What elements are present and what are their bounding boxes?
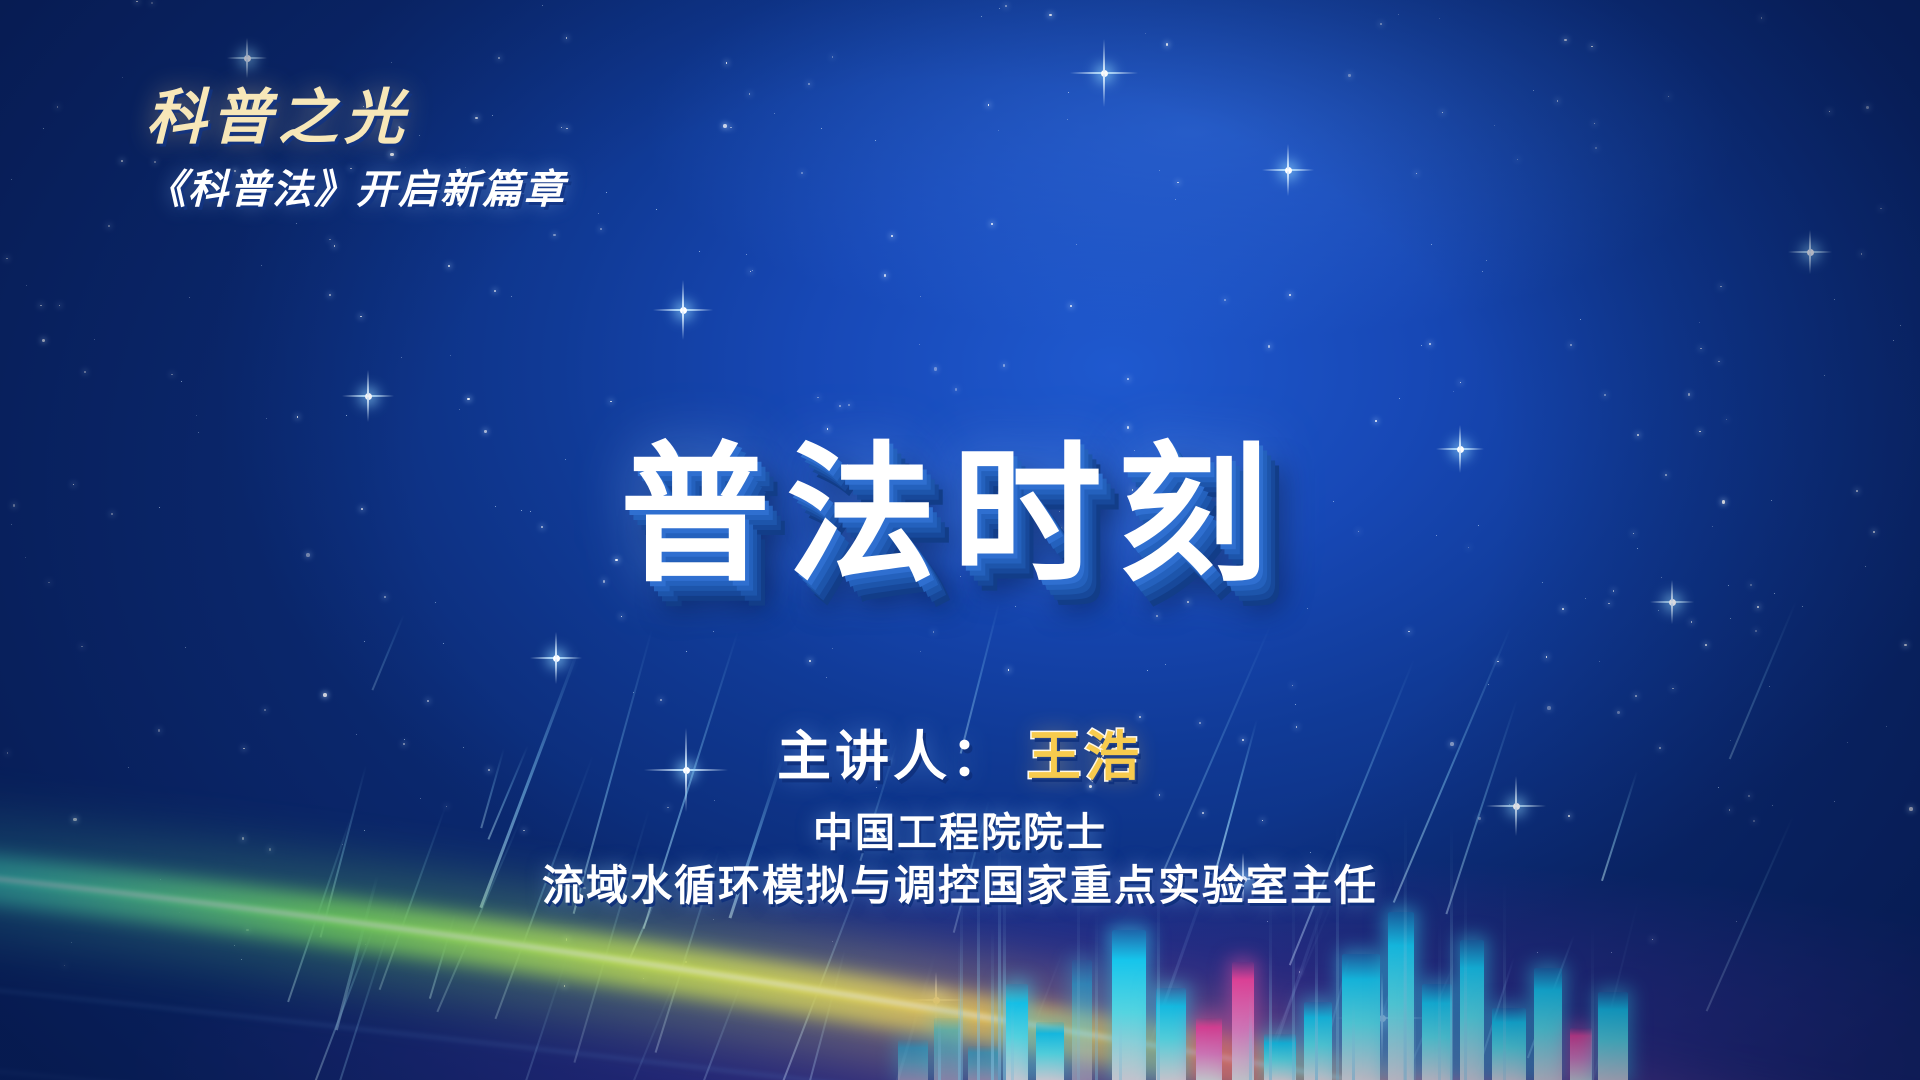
star: [566, 938, 568, 940]
star: [566, 128, 568, 130]
star: [817, 990, 818, 991]
light-column: [1413, 968, 1416, 1080]
sparkle-star: [908, 972, 964, 1028]
light-column: [958, 940, 961, 1080]
star: [1585, 598, 1586, 599]
light-ray: [371, 614, 404, 690]
star: [1557, 100, 1559, 102]
star: [1486, 260, 1487, 261]
star: [839, 405, 841, 407]
star: [686, 651, 687, 652]
light-ray: [1314, 940, 1408, 1080]
star: [1691, 621, 1693, 623]
star: [600, 228, 602, 230]
star: [1145, 33, 1146, 34]
equalizer-bar: [1388, 912, 1414, 1080]
star: [1736, 921, 1737, 922]
program-title: 科普之光: [146, 86, 566, 149]
star: [1008, 669, 1010, 671]
star: [43, 128, 44, 129]
sparkle-star: [342, 370, 394, 422]
star: [1546, 656, 1548, 658]
star: [566, 37, 568, 39]
light-ray: [603, 951, 687, 1080]
star: [542, 5, 543, 6]
equalizer-bar: [1036, 1022, 1064, 1080]
sparkle-star: [530, 632, 582, 684]
star: [364, 641, 365, 642]
star: [553, 234, 555, 236]
equalizer-bar: [1264, 1034, 1296, 1080]
star: [1187, 601, 1189, 603]
star: [360, 316, 362, 318]
star: [266, 418, 267, 419]
star: [6, 258, 8, 260]
equalizer-bar: [1112, 930, 1146, 1080]
star: [821, 128, 822, 129]
star: [643, 978, 644, 979]
star: [920, 651, 921, 652]
star: [1611, 952, 1612, 953]
star: [1748, 795, 1750, 797]
sparkle-star: [1070, 39, 1138, 107]
star: [1494, 125, 1495, 126]
star: [1005, 5, 1007, 7]
equalizer-bar: [1570, 1028, 1592, 1080]
star: [1730, 618, 1731, 619]
star: [1068, 92, 1069, 93]
star: [1408, 631, 1410, 633]
sparkle-core: [1807, 249, 1814, 256]
light-ray: [1583, 901, 1638, 1080]
star: [1761, 17, 1763, 19]
star: [920, 296, 921, 297]
star: [713, 631, 714, 632]
star: [1834, 801, 1835, 802]
star: [1613, 590, 1615, 592]
star: [1470, 986, 1472, 988]
star: [1398, 14, 1399, 15]
star: [1718, 361, 1720, 363]
star: [498, 57, 500, 59]
star: [81, 646, 83, 648]
star: [329, 239, 331, 241]
star: [1547, 706, 1551, 710]
star: [1439, 18, 1440, 19]
equalizer-bar: [1422, 984, 1452, 1080]
light-ray: [972, 951, 1063, 1080]
star: [598, 213, 599, 214]
star: [660, 699, 662, 701]
star: [1416, 173, 1417, 174]
equalizer-bar: [1342, 954, 1380, 1080]
star: [1177, 182, 1179, 184]
speaker-block: 主讲人：王浩: [0, 712, 1920, 791]
star: [1537, 952, 1538, 953]
star: [185, 647, 186, 648]
star: [384, 596, 386, 598]
star: [1159, 170, 1160, 171]
program-subtitle: 《科普法》开启新篇章: [146, 157, 566, 215]
star: [64, 965, 66, 967]
star: [610, 401, 612, 403]
star: [1070, 305, 1072, 307]
light-ray: [315, 911, 381, 1080]
star: [1635, 695, 1637, 697]
star: [71, 942, 72, 943]
star: [699, 251, 700, 252]
star: [1562, 608, 1564, 610]
star: [730, 127, 732, 129]
sparkle-core: [1669, 599, 1676, 606]
star: [1380, 23, 1382, 25]
headline-text: 普法时刻: [620, 440, 1300, 590]
star: [181, 381, 182, 382]
star: [832, 648, 833, 649]
star: [1599, 661, 1600, 662]
star: [1594, 123, 1595, 124]
star: [1769, 686, 1770, 687]
equalizer-bar: [934, 1018, 960, 1080]
star: [606, 192, 607, 193]
star: [1429, 343, 1431, 345]
star: [494, 290, 496, 292]
slide-canvas: 科普之光 《科普法》开启新篇章 普法时刻 主讲人：王浩 中国工程院院士 流域水循…: [0, 0, 1920, 1080]
star: [234, 945, 235, 946]
star: [484, 430, 486, 432]
star: [427, 700, 429, 702]
star: [832, 941, 833, 942]
star: [752, 270, 753, 271]
star: [1699, 322, 1700, 323]
star: [59, 305, 60, 306]
star: [848, 404, 850, 406]
star: [511, 296, 512, 297]
star: [1267, 921, 1268, 922]
star: [1175, 199, 1176, 200]
star: [1488, 684, 1489, 685]
star: [296, 223, 297, 224]
star: [1570, 344, 1572, 346]
headline-block: 普法时刻: [0, 440, 1920, 590]
star: [1497, 661, 1499, 663]
star: [1442, 112, 1443, 113]
star: [1156, 615, 1158, 617]
star: [1802, 606, 1803, 607]
star: [726, 62, 728, 64]
star: [391, 62, 392, 63]
light-column: [991, 928, 994, 1080]
light-column: [1438, 920, 1441, 1080]
sparkle-core: [680, 307, 687, 314]
star: [1774, 593, 1775, 594]
star: [26, 285, 27, 286]
star: [1755, 630, 1757, 632]
star: [1866, 106, 1870, 110]
star: [1688, 393, 1690, 395]
star: [1834, 299, 1835, 300]
star: [1595, 147, 1597, 149]
star: [1375, 420, 1377, 422]
credential-line-1: 中国工程院院士: [0, 808, 1920, 859]
light-column: [1352, 997, 1355, 1080]
star: [448, 265, 450, 267]
light-column: [1249, 988, 1252, 1080]
star: [1159, 794, 1161, 796]
light-ray: [1378, 959, 1457, 1080]
star: [1295, 704, 1296, 705]
star: [1003, 364, 1005, 366]
star: [891, 235, 893, 237]
star: [136, 1, 138, 3]
star: [446, 806, 447, 807]
star: [991, 223, 993, 225]
star: [57, 106, 59, 108]
star: [999, 8, 1000, 9]
light-ray: [1311, 957, 1350, 1080]
star: [998, 130, 999, 131]
star: [1672, 688, 1674, 690]
star: [84, 371, 86, 373]
star: [801, 172, 803, 174]
credentials-block: 中国工程院院士 流域水循环模拟与调控国家重点实验室主任: [0, 808, 1920, 913]
star: [1772, 805, 1773, 806]
star: [749, 93, 751, 95]
star: [919, 344, 920, 345]
star: [196, 415, 197, 416]
sparkle-star: [653, 280, 713, 340]
star: [1861, 253, 1863, 255]
star: [1699, 431, 1701, 433]
sparkle-core: [933, 997, 940, 1004]
star: [122, 77, 123, 78]
star: [40, 305, 42, 307]
star: [621, 616, 622, 617]
star: [955, 388, 957, 390]
light-column: [1269, 900, 1272, 1080]
light-ray: [794, 949, 845, 1080]
star: [459, 409, 460, 410]
star: [1049, 14, 1051, 16]
sparkle-core: [553, 655, 560, 662]
brand-block: 科普之光 《科普法》开启新篇章: [146, 86, 566, 215]
sparkle-core: [365, 393, 372, 400]
star: [1289, 294, 1291, 296]
equalizer-bar: [968, 1046, 998, 1080]
star: [1720, 286, 1722, 288]
star: [121, 160, 123, 162]
star: [189, 297, 190, 298]
star: [1904, 644, 1906, 646]
star: [1127, 426, 1129, 428]
star: [1348, 74, 1350, 76]
light-column: [1119, 1002, 1122, 1080]
star: [685, 961, 687, 963]
star: [808, 83, 810, 85]
light-ray: [1527, 935, 1574, 1058]
light-column: [1095, 911, 1098, 1080]
speaker-name: 王浩: [1027, 727, 1143, 787]
star: [329, 294, 331, 296]
star: [934, 367, 938, 371]
star: [1431, 244, 1432, 245]
equalizer-bar: [1196, 1018, 1222, 1080]
equalizer-bar: [1156, 988, 1186, 1080]
star: [817, 397, 819, 399]
star: [108, 225, 110, 227]
star: [1658, 610, 1659, 611]
sparkle-star: [1788, 230, 1832, 274]
equalizer-bar: [1006, 984, 1028, 1080]
star: [1076, 244, 1077, 245]
star: [1668, 96, 1670, 98]
star: [1893, 340, 1894, 341]
star: [1705, 644, 1707, 646]
star: [1509, 804, 1510, 805]
star: [933, 631, 935, 633]
star: [435, 602, 436, 603]
star: [723, 124, 727, 128]
equalizer-bar: [1232, 962, 1254, 1080]
star: [1757, 606, 1759, 608]
sparkle-core: [1285, 167, 1292, 174]
star: [1608, 603, 1610, 605]
light-ray: [304, 896, 400, 1080]
star: [656, 209, 657, 210]
star: [1421, 345, 1422, 346]
star: [1166, 43, 1168, 45]
light-ray: [845, 952, 937, 1080]
star: [1652, 939, 1654, 941]
star: [42, 339, 46, 343]
star: [1299, 971, 1301, 973]
star: [1453, 391, 1454, 392]
credential-line-2: 流域水循环模拟与调控国家重点实验室主任: [0, 859, 1920, 913]
star: [1307, 608, 1308, 609]
star: [875, 140, 876, 141]
star: [1824, 375, 1825, 376]
light-column: [1591, 922, 1594, 1080]
star: [827, 428, 829, 430]
star: [420, 798, 421, 799]
star: [981, 16, 982, 17]
sparkle-core: [1379, 1015, 1386, 1022]
star: [198, 432, 199, 433]
star: [1591, 46, 1593, 48]
star: [1533, 90, 1534, 91]
sparkle-star: [1262, 144, 1314, 196]
sparkle-core: [1101, 70, 1108, 77]
equalizer-bar: [1072, 960, 1092, 1080]
light-ray: [508, 950, 570, 1080]
star: [1637, 434, 1639, 436]
light-column: [1011, 992, 1014, 1080]
star: [1604, 394, 1606, 396]
star: [1700, 348, 1702, 350]
light-ray: [1225, 891, 1338, 1080]
star: [1460, 382, 1461, 383]
star: [1224, 299, 1226, 301]
light-column: [938, 1011, 941, 1080]
star: [988, 104, 990, 106]
speaker-label: 主讲人：: [777, 727, 1009, 787]
star: [826, 677, 827, 678]
star: [346, 415, 347, 416]
star: [151, 2, 153, 4]
light-ray: [1227, 899, 1326, 1080]
star: [633, 692, 634, 693]
star: [323, 693, 327, 697]
star: [1165, 664, 1166, 665]
star: [11, 179, 12, 180]
star: [1268, 345, 1270, 347]
equalizer-bar: [1534, 968, 1562, 1080]
light-ray: [429, 914, 456, 999]
star: [1564, 39, 1566, 41]
star: [1517, 159, 1518, 160]
star: [1127, 378, 1129, 380]
light-ray: [1477, 957, 1514, 1070]
star: [1880, 208, 1882, 210]
star: [1147, 670, 1148, 671]
equalizer-bar: [1492, 1008, 1526, 1080]
star: [750, 271, 752, 273]
equalizer-bar: [1598, 992, 1628, 1080]
sparkle-star: [1336, 972, 1428, 1064]
star: [261, 265, 262, 266]
sparkle-core: [244, 55, 251, 62]
star: [94, 339, 95, 340]
star: [713, 919, 714, 920]
star: [467, 398, 469, 400]
equalizer-bar: [1460, 940, 1484, 1080]
star: [1292, 685, 1294, 687]
star: [1399, 398, 1400, 399]
star: [1726, 419, 1727, 420]
light-column: [1315, 911, 1318, 1080]
star: [365, 944, 366, 945]
star: [1900, 325, 1901, 326]
star: [443, 643, 444, 644]
star: [1067, 119, 1068, 120]
equalizer-bar: [898, 1040, 928, 1080]
star: [401, 357, 402, 358]
equalizer-bar: [1304, 1002, 1332, 1080]
star: [774, 113, 775, 114]
star: [1015, 606, 1016, 607]
star: [714, 800, 715, 801]
star: [884, 274, 886, 276]
star: [1482, 271, 1483, 272]
star: [832, 56, 834, 58]
star: [241, 959, 242, 960]
star: [297, 416, 299, 418]
star: [1829, 111, 1831, 113]
star: [746, 254, 747, 255]
star: [171, 374, 173, 376]
star: [246, 929, 248, 931]
star: [450, 355, 451, 356]
star: [1580, 319, 1581, 320]
star: [564, 985, 566, 987]
star: [334, 245, 336, 247]
star: [809, 660, 811, 662]
sparkle-star: [227, 38, 267, 78]
light-ray: [685, 965, 748, 1080]
